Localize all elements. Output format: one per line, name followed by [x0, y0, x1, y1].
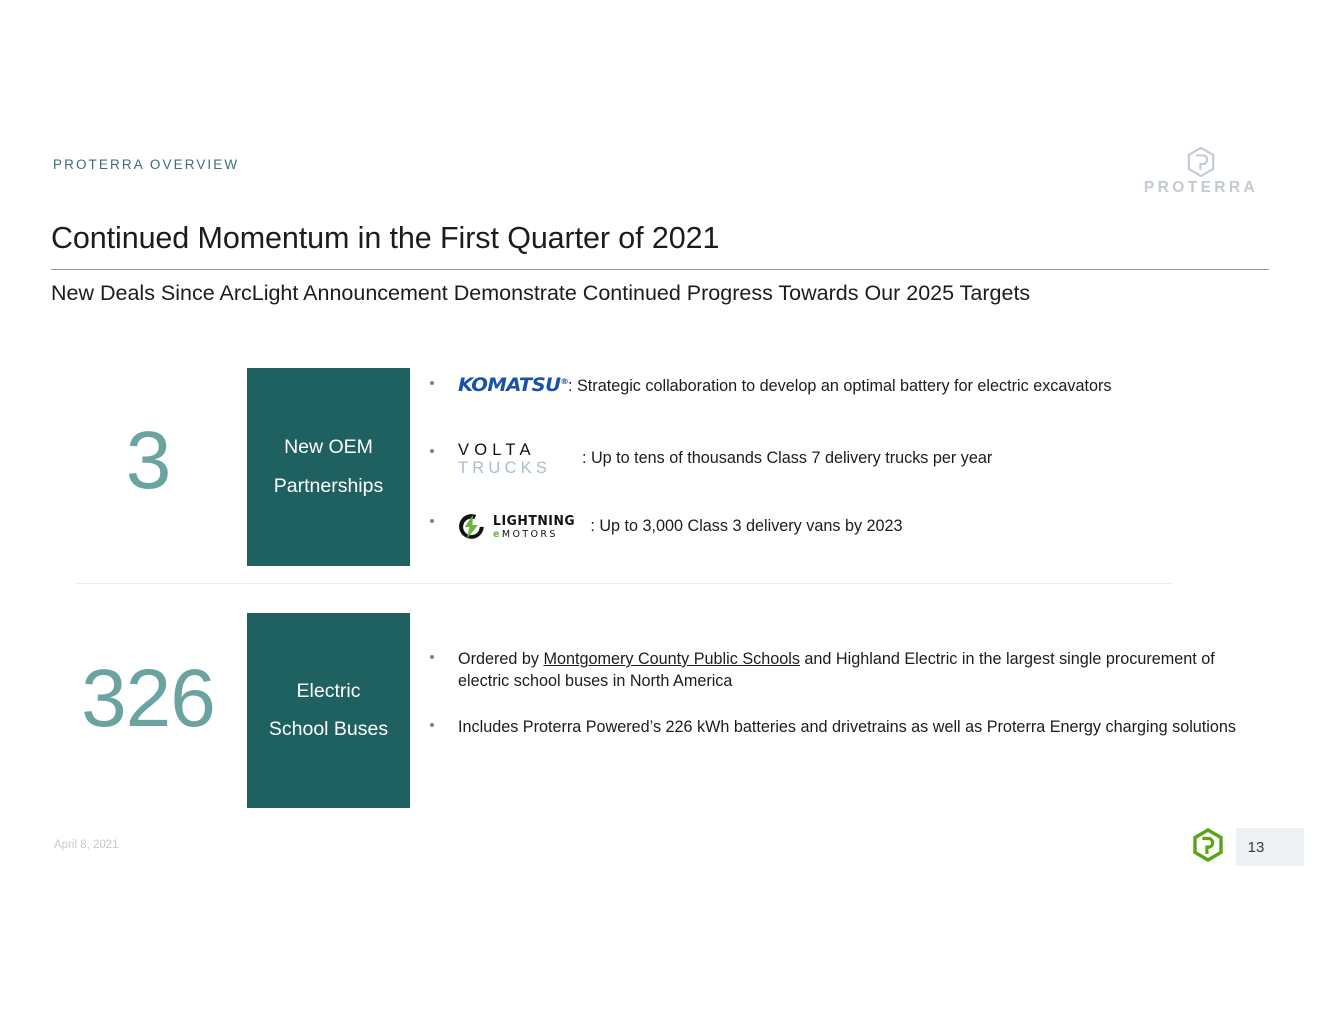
bullet-item-order: Ordered by Montgomery County Public Scho…	[428, 648, 1248, 693]
stat-label-line2-oem: Partnerships	[274, 477, 383, 497]
bullet-text-order-pre: Ordered by	[458, 650, 543, 668]
bullet-item-volta-trucks: VOLTA TRUCKS : Up to tens of thousands C…	[428, 442, 1248, 476]
stat-number-buses: 326	[58, 658, 238, 740]
proterra-hexagon-icon	[1186, 146, 1216, 178]
page-subtitle: New Deals Since ArcLight Announcement De…	[51, 281, 1030, 306]
lightning-emotors-logo: LIGHTNING eMOTORS	[458, 512, 582, 542]
komatsu-logo-text: KOMATSU	[458, 375, 560, 396]
stat-row-oem-partnerships: 3 New OEM Partnerships KOMATSU® : Strate…	[0, 360, 1320, 570]
stat-label-line1-buses: Electric	[297, 682, 361, 702]
bullet-dot-icon	[430, 519, 434, 523]
bullet-dot-icon	[430, 449, 434, 453]
volta-logo-line1: VOLTA	[458, 442, 576, 459]
volta-trucks-logo: VOLTA TRUCKS	[458, 442, 576, 476]
lightning-logo-motors: MOTORS	[502, 529, 558, 540]
bullet-item-komatsu: KOMATSU® : Strategic collaboration to de…	[428, 374, 1248, 399]
bullet-text-volta-trucks: : Up to tens of thousands Class 7 delive…	[582, 448, 992, 470]
stat-label-box-buses: Electric School Buses	[247, 613, 410, 808]
komatsu-logo: KOMATSU®	[458, 374, 568, 399]
stat-label-line2-buses: School Buses	[269, 720, 388, 740]
bullet-dot-icon	[430, 381, 434, 385]
lightning-logo-line2: eMOTORS	[493, 530, 582, 540]
bullet-dot-icon	[430, 723, 434, 727]
bullet-text-order: Ordered by Montgomery County Public Scho…	[458, 650, 1215, 690]
bullet-item-lightning-emotors: LIGHTNING eMOTORS : Up to 3,000 Class 3 …	[428, 512, 1248, 542]
bullet-link-montgomery-county[interactable]: Montgomery County Public Schools	[543, 650, 799, 668]
page-title: Continued Momentum in the First Quarter …	[51, 221, 719, 256]
stat-label-line1-oem: New OEM	[284, 438, 373, 458]
volta-logo-line2: TRUCKS	[458, 460, 576, 477]
proterra-logo-footer	[1190, 827, 1226, 865]
komatsu-registered-mark: ®	[560, 377, 568, 386]
lightning-logo-e: e	[493, 529, 502, 540]
proterra-logo-header: PROTERRA	[1138, 146, 1264, 204]
bullet-dot-icon	[430, 655, 434, 659]
lightning-bolt-icon	[458, 512, 488, 542]
lightning-emotors-wordmark: LIGHTNING eMOTORS	[493, 515, 582, 539]
bullet-text-includes: Includes Proterra Powered’s 226 kWh batt…	[458, 718, 1236, 736]
bullet-text-komatsu: : Strategic collaboration to develop an …	[568, 376, 1111, 398]
row-divider	[76, 583, 1172, 584]
stat-row-electric-school-buses: 326 Electric School Buses Ordered by Mon…	[0, 612, 1320, 808]
bullet-text-lightning-emotors: : Up to 3,000 Class 3 delivery vans by 2…	[590, 516, 902, 538]
stat-label-box-oem: New OEM Partnerships	[247, 368, 410, 566]
bullet-item-includes: Includes Proterra Powered’s 226 kWh batt…	[428, 716, 1248, 738]
footer-date: April 8, 2021	[54, 839, 119, 851]
page-number: 13	[1236, 828, 1276, 866]
eyebrow-label: PROTERRA OVERVIEW	[53, 157, 239, 172]
lightning-logo-line1: LIGHTNING	[493, 515, 575, 529]
title-divider	[51, 269, 1269, 270]
stat-number-oem: 3	[78, 420, 218, 502]
proterra-wordmark: PROTERRA	[1144, 180, 1258, 196]
